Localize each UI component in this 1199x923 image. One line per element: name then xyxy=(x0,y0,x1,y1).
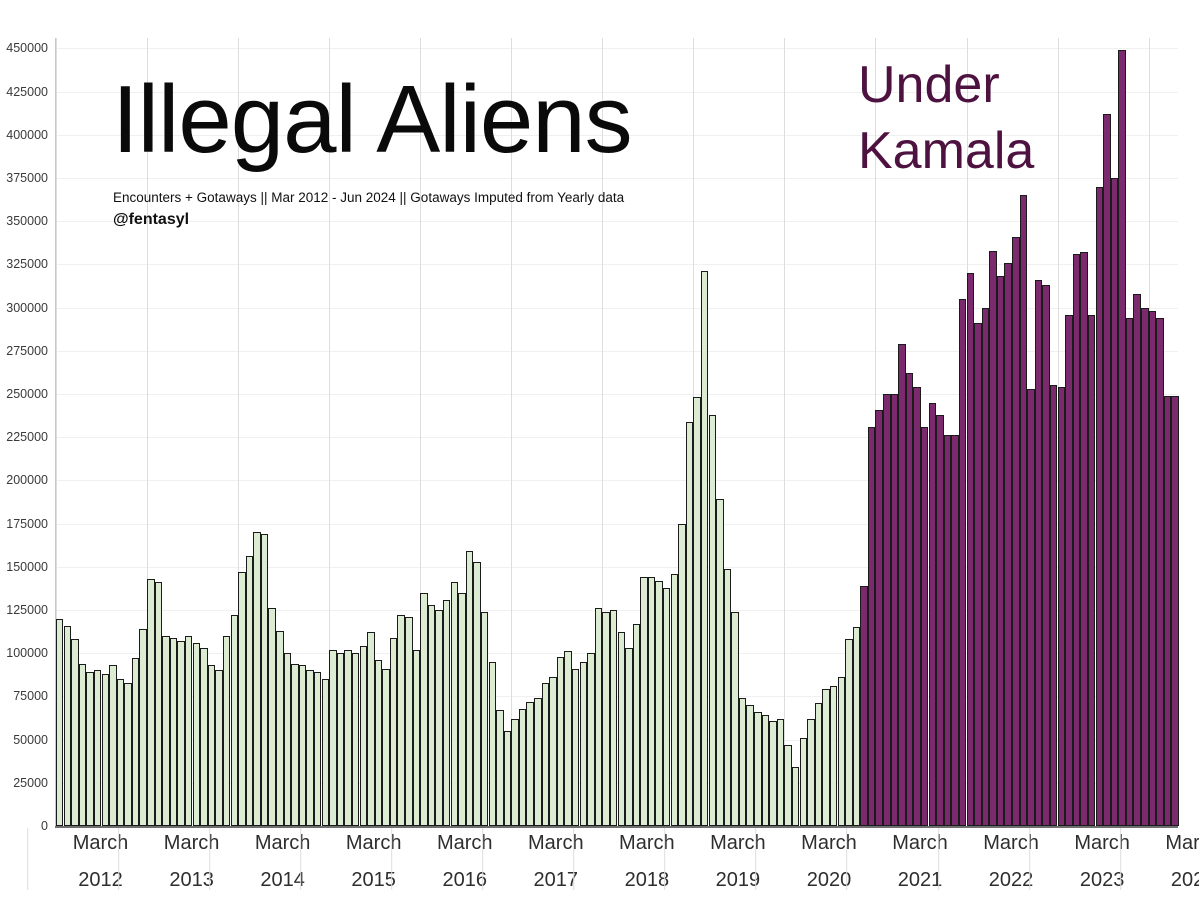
bar xyxy=(959,299,966,826)
y-axis: 0250005000075000100000125000150000175000… xyxy=(0,38,48,826)
bar xyxy=(504,731,511,826)
x-axis-year-label: 2014 xyxy=(255,869,311,892)
bar xyxy=(1065,315,1072,827)
bar xyxy=(1111,178,1118,826)
bar xyxy=(989,251,996,826)
bar xyxy=(1080,252,1087,826)
x-axis-month-label: March xyxy=(255,832,311,855)
bar xyxy=(329,650,336,826)
y-gridline xyxy=(56,48,1178,49)
bar xyxy=(390,638,397,826)
bar xyxy=(792,767,799,826)
x-axis-month-label: March xyxy=(528,832,584,855)
bar xyxy=(1164,396,1171,826)
bar xyxy=(967,273,974,826)
bar xyxy=(451,582,458,826)
bar xyxy=(602,612,609,826)
x-tick-separator xyxy=(1029,828,1030,890)
bar xyxy=(284,653,291,826)
bar xyxy=(177,641,184,826)
y-axis-tick-label: 75000 xyxy=(13,689,48,703)
bar xyxy=(375,660,382,826)
bar xyxy=(838,677,845,826)
bar xyxy=(762,715,769,826)
x-axis-tick: March2012 xyxy=(73,828,129,892)
x-axis-year-label: 2024 xyxy=(1165,869,1199,892)
x-axis-month-label: March xyxy=(801,832,857,855)
bar xyxy=(777,719,784,826)
bar xyxy=(481,612,488,826)
bar xyxy=(739,698,746,826)
bar xyxy=(860,586,867,826)
y-axis-tick-label: 100000 xyxy=(6,646,48,660)
bar xyxy=(1058,387,1065,826)
bar xyxy=(238,572,245,826)
chart-subtitle: Encounters + Gotaways || Mar 2012 - Jun … xyxy=(113,190,624,205)
x-axis-tick: March2023 xyxy=(1074,828,1130,892)
x-axis-tick: March2016 xyxy=(437,828,493,892)
bar xyxy=(982,308,989,826)
bar xyxy=(1035,280,1042,826)
bar xyxy=(595,608,602,826)
bar xyxy=(1156,318,1163,826)
bar xyxy=(1088,315,1095,827)
bar xyxy=(845,639,852,826)
y-axis-tick-label: 125000 xyxy=(6,603,48,617)
bar xyxy=(132,658,139,826)
bar xyxy=(625,648,632,826)
y-axis-tick-label: 325000 xyxy=(6,257,48,271)
bar xyxy=(822,689,829,826)
bar xyxy=(716,499,723,826)
x-axis-tick: March2024 xyxy=(1165,828,1199,892)
bar xyxy=(1126,318,1133,826)
x-axis-month-label: March xyxy=(619,832,675,855)
bar xyxy=(731,612,738,826)
bar xyxy=(1027,389,1034,826)
bar xyxy=(139,629,146,826)
bar xyxy=(352,653,359,826)
x-axis-tick: March2021 xyxy=(892,828,948,892)
x-axis-year-label: 2021 xyxy=(892,869,948,892)
x-tick-separator xyxy=(574,828,575,890)
bar xyxy=(1118,50,1125,826)
bar xyxy=(769,721,776,826)
y-axis-tick-label: 25000 xyxy=(13,776,48,790)
bar xyxy=(944,435,951,826)
bar xyxy=(564,651,571,826)
bar xyxy=(784,745,791,826)
bar xyxy=(557,657,564,826)
x-axis-tick: March2018 xyxy=(619,828,675,892)
bar xyxy=(678,524,685,826)
bar xyxy=(997,276,1004,826)
y-axis-tick-label: 150000 xyxy=(6,560,48,574)
bar xyxy=(124,683,131,826)
bar xyxy=(1020,195,1027,826)
bar xyxy=(261,534,268,826)
bar xyxy=(367,632,374,826)
bar xyxy=(671,574,678,826)
bar xyxy=(109,665,116,826)
bar xyxy=(117,679,124,826)
x-axis-year-label: 2019 xyxy=(710,869,766,892)
x-axis-month-label: March xyxy=(1165,832,1199,855)
x-axis-tick: March2014 xyxy=(255,828,311,892)
bar xyxy=(701,271,708,826)
y-axis-tick-label: 400000 xyxy=(6,128,48,142)
bar xyxy=(1096,187,1103,826)
bar xyxy=(534,698,541,826)
bar xyxy=(382,669,389,826)
bar xyxy=(147,579,154,826)
bar xyxy=(663,588,670,826)
kamala-annotation: Under Kamala xyxy=(858,52,1034,184)
bar xyxy=(519,709,526,827)
bar xyxy=(648,577,655,826)
x-axis-year-label: 2017 xyxy=(528,869,584,892)
bar xyxy=(815,703,822,826)
bar xyxy=(466,551,473,826)
bar xyxy=(344,650,351,826)
x-axis-tick: March2019 xyxy=(710,828,766,892)
bar xyxy=(291,664,298,826)
y-axis-tick-label: 175000 xyxy=(6,517,48,531)
bar xyxy=(71,639,78,826)
x-tick-separator xyxy=(1120,828,1121,890)
x-axis: March2012March2013March2014March2015Marc… xyxy=(55,828,1178,923)
bar xyxy=(913,387,920,826)
bar xyxy=(1141,308,1148,826)
x-axis-year-label: 2012 xyxy=(73,869,129,892)
bar xyxy=(640,577,647,826)
y-axis-tick-label: 250000 xyxy=(6,387,48,401)
bar xyxy=(306,670,313,826)
y-axis-tick-label: 350000 xyxy=(6,214,48,228)
x-axis-month-label: March xyxy=(73,832,129,855)
bar xyxy=(746,705,753,826)
bar xyxy=(891,394,898,826)
bar xyxy=(542,683,549,826)
bar xyxy=(921,427,928,826)
x-axis-month-label: March xyxy=(1074,832,1130,855)
bar xyxy=(337,653,344,826)
bar xyxy=(155,582,162,826)
bar xyxy=(853,627,860,826)
y-axis-tick-label: 275000 xyxy=(6,344,48,358)
bar xyxy=(883,394,890,826)
x-tick-separator xyxy=(118,828,119,890)
chart-figure: 0250005000075000100000125000150000175000… xyxy=(0,0,1199,923)
bar xyxy=(215,670,222,826)
bar xyxy=(223,636,230,826)
bar xyxy=(56,619,63,826)
bar xyxy=(185,636,192,826)
x-tick-separator xyxy=(847,828,848,890)
bar xyxy=(1004,263,1011,826)
bar xyxy=(800,738,807,826)
bar xyxy=(428,605,435,826)
bar xyxy=(511,719,518,826)
y-axis-tick-label: 50000 xyxy=(13,733,48,747)
x-axis-month-label: March xyxy=(346,832,402,855)
bar xyxy=(253,532,260,826)
bar xyxy=(79,664,86,826)
bar xyxy=(322,679,329,826)
bar xyxy=(587,653,594,826)
bar xyxy=(868,427,875,826)
y-axis-tick-label: 450000 xyxy=(6,41,48,55)
author-handle: @fentasyl xyxy=(113,211,189,229)
bar xyxy=(898,344,905,826)
bar xyxy=(936,415,943,826)
bar xyxy=(1012,237,1019,826)
bar xyxy=(200,648,207,826)
page-title: Illegal Aliens xyxy=(112,72,632,168)
bar xyxy=(974,323,981,826)
bar xyxy=(299,665,306,826)
y-axis-tick-label: 375000 xyxy=(6,171,48,185)
bar xyxy=(1103,114,1110,826)
bar xyxy=(830,686,837,826)
bar xyxy=(489,662,496,826)
bar xyxy=(473,562,480,826)
y-axis-tick-label: 425000 xyxy=(6,85,48,99)
x-tick-separator xyxy=(391,828,392,890)
x-axis-month-label: March xyxy=(164,832,220,855)
bar xyxy=(754,712,761,826)
bar xyxy=(276,631,283,826)
x-axis-year-label: 2016 xyxy=(437,869,493,892)
bar xyxy=(610,610,617,826)
bar xyxy=(618,632,625,826)
x-axis-month-label: March xyxy=(437,832,493,855)
bar xyxy=(724,569,731,826)
x-axis-tick: March2017 xyxy=(528,828,584,892)
x-axis-year-label: 2023 xyxy=(1074,869,1130,892)
bar xyxy=(64,626,71,826)
bar xyxy=(443,600,450,826)
x-axis-tick: March2013 xyxy=(164,828,220,892)
y-axis-tick-label: 225000 xyxy=(6,430,48,444)
x-tick-separator xyxy=(938,828,939,890)
bar xyxy=(655,581,662,826)
bar xyxy=(1133,294,1140,826)
x-gridline xyxy=(784,38,785,826)
x-axis-year-label: 2022 xyxy=(983,869,1039,892)
bar xyxy=(929,403,936,826)
x-tick-separator xyxy=(482,828,483,890)
x-axis-month-label: March xyxy=(710,832,766,855)
bar xyxy=(1149,311,1156,826)
x-tick-separator xyxy=(27,828,28,890)
x-tick-separator xyxy=(300,828,301,890)
x-tick-separator xyxy=(209,828,210,890)
y-axis-tick-label: 300000 xyxy=(6,301,48,315)
bar xyxy=(208,665,215,826)
y-gridline xyxy=(56,221,1178,222)
bar xyxy=(526,702,533,826)
bar xyxy=(231,615,238,826)
bar xyxy=(193,643,200,826)
bar xyxy=(549,677,556,826)
bar xyxy=(413,650,420,826)
bar xyxy=(162,636,169,826)
bar xyxy=(420,593,427,826)
bar xyxy=(170,638,177,826)
bar xyxy=(572,669,579,826)
x-axis-tick: March2022 xyxy=(983,828,1039,892)
x-axis-tick: March2020 xyxy=(801,828,857,892)
bar xyxy=(693,397,700,826)
x-axis-year-label: 2018 xyxy=(619,869,675,892)
bar xyxy=(1050,385,1057,826)
x-axis-month-label: March xyxy=(983,832,1039,855)
bar xyxy=(709,415,716,826)
bar xyxy=(246,556,253,826)
bar xyxy=(686,422,693,826)
bar xyxy=(268,608,275,826)
bar xyxy=(580,662,587,826)
bar xyxy=(314,672,321,826)
y-axis-tick-label: 200000 xyxy=(6,473,48,487)
bar xyxy=(1073,254,1080,826)
bar xyxy=(458,593,465,826)
x-axis-month-label: March xyxy=(892,832,948,855)
bar xyxy=(633,624,640,826)
bar xyxy=(496,710,503,826)
x-tick-separator xyxy=(665,828,666,890)
bar xyxy=(405,617,412,826)
bar xyxy=(906,373,913,826)
x-tick-separator xyxy=(756,828,757,890)
bar xyxy=(94,670,101,826)
bar xyxy=(1042,285,1049,826)
bar xyxy=(435,610,442,826)
x-axis-year-label: 2013 xyxy=(164,869,220,892)
bar xyxy=(102,674,109,826)
bar xyxy=(807,719,814,826)
bar xyxy=(1171,396,1178,826)
bar xyxy=(875,410,882,826)
x-axis-year-label: 2020 xyxy=(801,869,857,892)
bar xyxy=(397,615,404,826)
bar xyxy=(951,435,958,826)
x-axis-tick: March2015 xyxy=(346,828,402,892)
bar xyxy=(86,672,93,826)
bar xyxy=(360,646,367,826)
x-axis-year-label: 2015 xyxy=(346,869,402,892)
y-axis-tick-label: 0 xyxy=(41,819,48,833)
